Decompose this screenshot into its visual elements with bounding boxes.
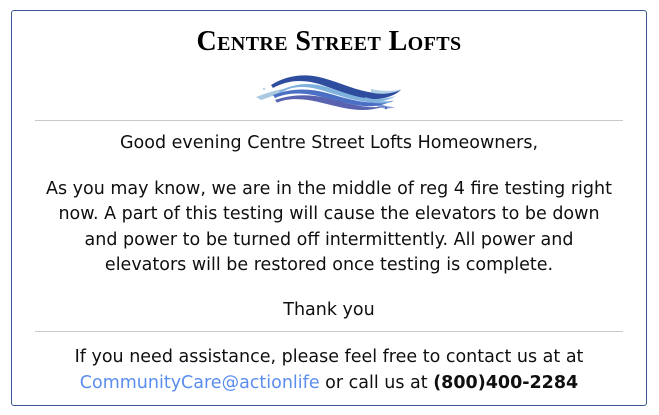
logo-container bbox=[12, 67, 646, 111]
contact-email-link[interactable]: CommunityCare@actionlife bbox=[80, 373, 320, 393]
header-block: Centre Street Lofts bbox=[12, 11, 646, 111]
blue-wave-brushstroke-logo bbox=[253, 67, 405, 111]
call-us-text: or call us at bbox=[320, 373, 434, 393]
divider-bottom bbox=[35, 331, 623, 332]
notice-card: Centre Street Lofts bbox=[11, 10, 647, 406]
divider-top bbox=[35, 120, 623, 121]
contact-phone-number: (800)400-2284 bbox=[433, 373, 578, 393]
assistance-line: If you need assistance, please feel free… bbox=[75, 347, 584, 367]
greeting-text: Good evening Centre Street Lofts Homeown… bbox=[12, 133, 646, 155]
contact-footer: If you need assistance, please feel free… bbox=[34, 345, 624, 396]
page-title: Centre Street Lofts bbox=[12, 28, 646, 56]
closing-text: Thank you bbox=[12, 300, 646, 322]
message-body: As you may know, we are in the middle of… bbox=[42, 177, 616, 279]
